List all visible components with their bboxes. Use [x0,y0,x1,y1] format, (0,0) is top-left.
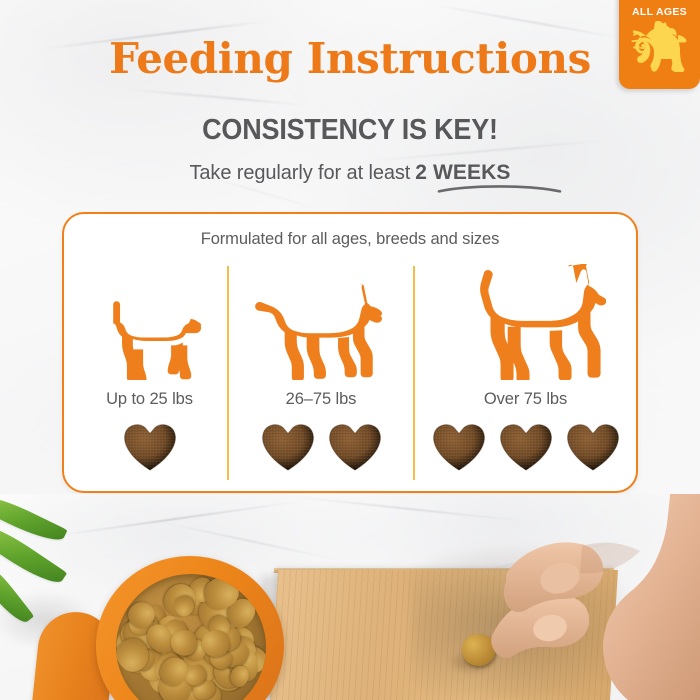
page-title: Feeding Instructions [0,38,700,80]
kibble-heart-icon [497,420,555,473]
tagline: Take regularly for at least2 WEEKS [0,161,700,185]
medium-dog-silhouette-icon [251,282,391,380]
feeding-instructions-infographic: ALL AGES Feeding Instructions CONSISTENC… [0,0,700,700]
tagline-emphasis: 2 WEEKS [415,161,510,184]
feeding-chart-card: Formulated for all ages, breeds and size… [62,212,638,493]
weight-label-medium: 26–75 lbs [229,390,413,409]
kibble-heart-icon [430,420,488,473]
kibble-row-medium [229,420,413,473]
all-ages-badge-label: ALL AGES [619,6,700,18]
kibble-heart-icon [564,420,622,473]
kibble-row-small [72,420,227,473]
subtitle: CONSISTENCY IS KEY! [25,114,676,147]
small-dog-figure [72,280,227,380]
underline-swoosh-icon [437,184,562,193]
kibble-heart-icon [326,420,384,473]
marble-vein [120,88,309,106]
weight-label-small: Up to 25 lbs [72,390,227,409]
hand-holding-kibble [432,494,700,700]
large-dog-silhouette-icon [446,264,606,380]
large-dog-figure [415,248,636,380]
product-photo [0,494,700,700]
tagline-prefix: Take regularly for at least [190,162,411,184]
medium-dog-figure [229,264,413,380]
kibble-row-large [415,420,636,473]
weight-label-large: Over 75 lbs [415,390,636,409]
feeding-column-small: Up to 25 lbs [72,262,227,482]
kibble-heart-icon [121,420,179,473]
feeding-column-large: Over 75 lbs [415,262,636,482]
feeding-column-medium: 26–75 lbs [229,262,413,482]
card-caption: Formulated for all ages, breeds and size… [64,230,636,249]
small-dog-silhouette-icon [96,300,204,380]
kibble-heart-icon [259,420,317,473]
kibble-pile [116,574,266,700]
